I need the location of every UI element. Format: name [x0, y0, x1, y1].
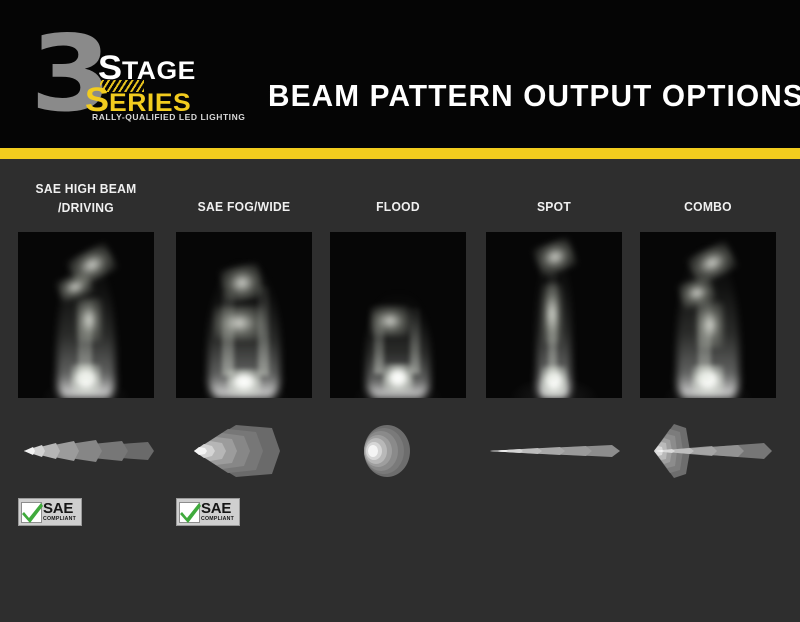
sae-compliant-badge: SAE COMPLIANT: [18, 498, 82, 526]
column-label-line1: SAE HIGH BEAM: [23, 180, 149, 199]
column-label-line1: SAE FOG/WIDE: [181, 198, 307, 217]
beam-pattern-chart: 3 STAGE SERIES RALLY-QUALIFIED LED LIGHT…: [0, 0, 800, 622]
column-label-spot: SPOT: [491, 180, 617, 232]
sae-badge-title: SAE: [43, 501, 76, 516]
green-check-icon: [179, 502, 200, 523]
beam-photo-sae-high-beam-driving: [18, 232, 154, 398]
beam-photo-combo: [640, 232, 776, 398]
column-flood: FLOOD: [330, 180, 466, 526]
column-sae-high-beam-driving: SAE HIGH BEAM /DRIVING: [18, 180, 154, 526]
column-label-line2: /DRIVING: [23, 199, 149, 218]
photo-streak: [222, 292, 234, 376]
photo-streak: [410, 308, 420, 374]
yellow-divider: [0, 148, 800, 159]
sae-badge-title: SAE: [201, 501, 234, 516]
photo-streak: [548, 272, 557, 382]
beam-diagram-svg: [18, 420, 154, 482]
beam-diagram-driving: [18, 420, 154, 482]
beam-diagram-wide: [176, 420, 312, 482]
beam-photo-sae-fog-wide: [176, 232, 312, 398]
column-label-sae-fog-wide: SAE FOG/WIDE: [181, 180, 307, 232]
beam-photo-spot: [486, 232, 622, 398]
sae-badge-subtitle: COMPLIANT: [201, 517, 234, 522]
logo-tagline: RALLY-QUALIFIED LED LIGHTING: [92, 112, 245, 122]
logo-stage-rest: TAGE: [122, 57, 196, 85]
column-label-sae-high-beam-driving: SAE HIGH BEAM /DRIVING: [23, 180, 149, 232]
beam-diagram-svg: [176, 420, 312, 482]
photo-streak: [374, 312, 384, 374]
column-label-line1: FLOOD: [335, 198, 461, 217]
column-label-line1: COMBO: [645, 198, 771, 217]
column-spot: SPOT: [486, 180, 622, 526]
stage-series-logo: 3 STAGE SERIES RALLY-QUALIFIED LED LIGHT…: [30, 28, 240, 128]
column-label-spacer: [645, 180, 771, 198]
column-label-spacer: [181, 180, 307, 198]
sae-badge-text: SAE COMPLIANT: [43, 501, 76, 522]
photo-streak: [78, 302, 92, 382]
beam-diagram-spot: [486, 420, 622, 482]
logo-word-stage: STAGE: [98, 51, 196, 85]
green-check-icon: [21, 502, 42, 523]
column-label-spacer: [335, 180, 461, 198]
sae-badge-subtitle: COMPLIANT: [43, 517, 76, 522]
beam-diagram-flood: [330, 420, 466, 482]
column-label-flood: FLOOD: [335, 180, 461, 232]
beam-diagram-combo: [640, 420, 776, 482]
page-title: BEAM PATTERN OUTPUT OPTIONS: [268, 78, 763, 114]
photo-hotspot: [383, 364, 413, 392]
column-label-spacer: [491, 180, 617, 198]
beam-diagram-svg: [640, 420, 776, 482]
sae-badge-text: SAE COMPLIANT: [201, 501, 234, 522]
sae-compliant-badge: SAE COMPLIANT: [176, 498, 240, 526]
column-label-combo: COMBO: [645, 180, 771, 232]
beam-diagram-svg: [330, 420, 466, 482]
column-label-line1: SPOT: [491, 198, 617, 217]
photo-streak: [698, 298, 711, 382]
column-combo: COMBO: [640, 180, 776, 526]
beam-photo-flood: [330, 232, 466, 398]
photo-streak: [258, 286, 269, 376]
beam-diagram-svg: [486, 420, 622, 482]
column-sae-fog-wide: SAE FOG/WIDE: [176, 180, 312, 526]
header-bar: 3 STAGE SERIES RALLY-QUALIFIED LED LIGHT…: [0, 0, 800, 148]
